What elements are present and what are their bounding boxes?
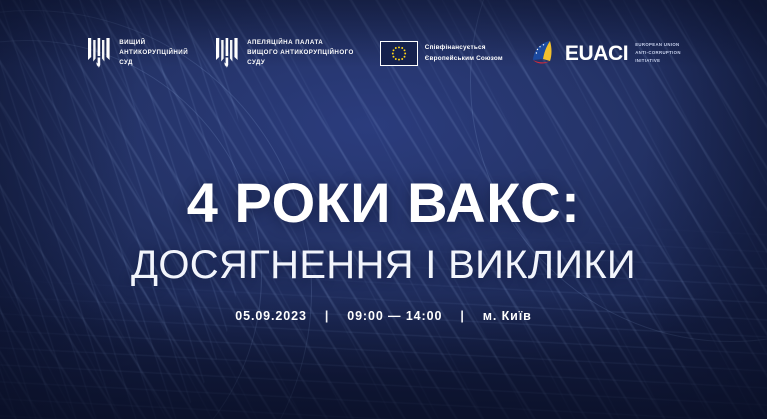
euaci-wordmark-wrap: EUACI (565, 43, 628, 64)
euaci-subtitle-line-1: EUROPEAN UNION (635, 41, 681, 49)
eu-flag-icon (380, 41, 418, 66)
logo-euaci: EUACI EUROPEAN UNION ANTI-CORRUPTION INI… (529, 38, 681, 68)
ukrainian-trident-icon (86, 36, 112, 70)
event-location: м. Київ (483, 309, 532, 323)
logo-hacc-appeals-line-1: АПЕЛЯЦІЙНА ПАЛАТА (247, 38, 354, 48)
event-meta-row: 05.09.2023 | 09:00 — 14:00 | м. Київ (0, 309, 767, 323)
euaci-subtitle-line-3: INITIATIVE (635, 57, 681, 65)
euaci-subtitle: EUROPEAN UNION ANTI-CORRUPTION INITIATIV… (634, 41, 681, 65)
eu-funding-line-2: Європейським Союзом (425, 53, 503, 64)
headline-block: 4 РОКИ ВАКС: ДОСЯГНЕННЯ І ВИКЛИКИ (0, 175, 767, 285)
event-time: 09:00 — 14:00 (347, 309, 442, 323)
logo-hacc-appeals-text: АПЕЛЯЦІЙНА ПАЛАТА ВИЩОГО АНТИКОРУПЦІЙНОГ… (247, 38, 354, 68)
euaci-wordmark: EUACI (565, 43, 628, 64)
logo-eu-funding: Співфінансується Європейським Союзом (380, 41, 503, 66)
logo-hacc-line-1: ВИЩИЙ (119, 38, 188, 48)
meta-separator-2: | (460, 309, 464, 323)
eu-funding-line-1: Співфінансується (425, 42, 503, 53)
ukrainian-trident-icon (214, 36, 240, 70)
euaci-subtitle-line-2: ANTI-CORRUPTION (635, 49, 681, 57)
euaci-swoosh-icon (529, 38, 559, 68)
meta-separator-1: | (325, 309, 329, 323)
logo-hacc-appeals-line-3: СУДУ (247, 58, 354, 68)
logo-hacc-appeals: АПЕЛЯЦІЙНА ПАЛАТА ВИЩОГО АНТИКОРУПЦІЙНОГ… (214, 36, 354, 70)
logo-hacc-line-3: СУД (119, 58, 188, 68)
logo-hacc: ВИЩИЙ АНТИКОРУПЦІЙНИЙ СУД (86, 36, 188, 70)
logo-hacc-text: ВИЩИЙ АНТИКОРУПЦІЙНИЙ СУД (119, 38, 188, 68)
logo-bar: ВИЩИЙ АНТИКОРУПЦІЙНИЙ СУД АПЕЛЯЦІЙНА (0, 36, 767, 70)
page-title: 4 РОКИ ВАКС: (0, 175, 767, 231)
event-date: 05.09.2023 (235, 309, 307, 323)
event-banner: ВИЩИЙ АНТИКОРУПЦІЙНИЙ СУД АПЕЛЯЦІЙНА (0, 0, 767, 419)
logo-eu-funding-text: Співфінансується Європейським Союзом (425, 42, 503, 64)
logo-hacc-line-2: АНТИКОРУПЦІЙНИЙ (119, 48, 188, 58)
page-subtitle: ДОСЯГНЕННЯ І ВИКЛИКИ (0, 245, 767, 285)
logo-hacc-appeals-line-2: ВИЩОГО АНТИКОРУПЦІЙНОГО (247, 48, 354, 58)
